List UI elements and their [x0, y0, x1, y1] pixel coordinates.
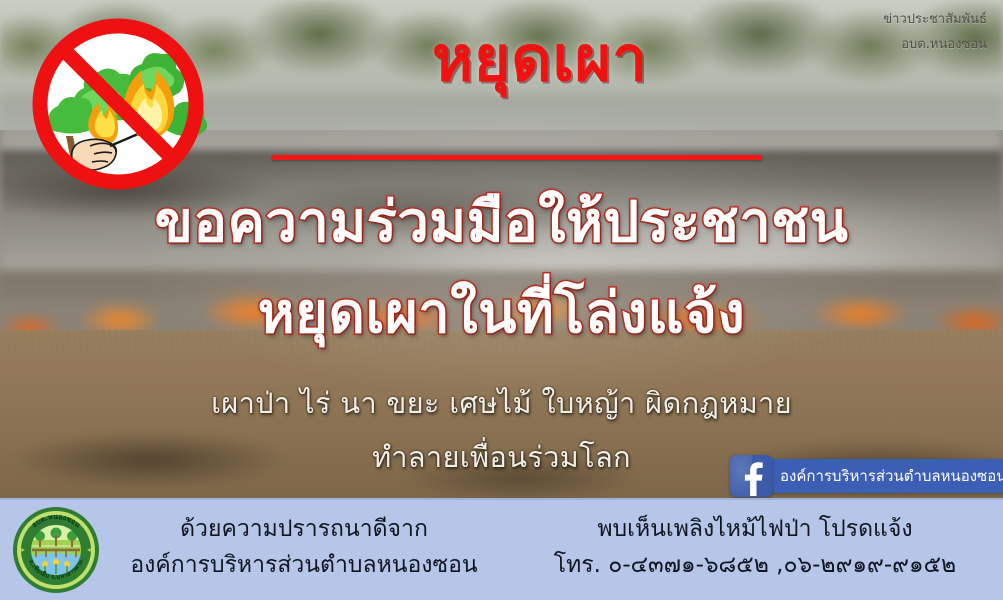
footer-left-line-1: ด้วยความปรารถนาดีจาก: [104, 512, 504, 548]
facebook-badge[interactable]: องค์การบริหารส่วนตำบลหนองซอน: [730, 455, 1003, 497]
top-right-agency-text: ข่าวประชาสัมพันธ์ อบต.หนองซอน: [883, 8, 987, 57]
no-open-burning-icon: [22, 18, 214, 190]
footer-left-text: ด้วยความปรารถนาดีจาก องค์การบริหารส่วนตำ…: [104, 512, 504, 583]
main-message-line-1: ขอความร่วมมือให้ประชาชน: [0, 192, 1003, 254]
municipal-seal-icon: อบต.หนองซอน อ.เชียงยืน จ.มหาสารคาม: [12, 506, 100, 594]
sub-message-line-1: เผาป่า ไร่ นา ขยะ เศษไม้ ใบหญ้า ผิดกฎหมา…: [0, 386, 1003, 421]
facebook-page-name[interactable]: องค์การบริหารส่วนตำบลหนองซอน: [766, 459, 1003, 493]
footer-bar: อบต.หนองซอน อ.เชียงยืน จ.มหาสารคาม ด้วยค…: [0, 498, 1003, 600]
main-message-line-2: หยุดเผาในที่โล่งแจ้ง: [0, 283, 1003, 345]
footer-left-line-2: องค์การบริหารส่วนตำบลหนองซอน: [104, 548, 504, 584]
headline-divider: [272, 155, 762, 160]
poster-canvas: ข่าวประชาสัมพันธ์ อบต.หนองซอน หยุดเผา ขอ…: [0, 0, 1003, 600]
agency-short-name: อบต.หนองซอน: [883, 33, 987, 58]
news-label: ข่าวประชาสัมพันธ์: [883, 8, 987, 33]
footer-right-text: พบเห็นเพลิงไหม้ไฟป่า โปรดแจ้ง โทร. ๐-๔๓๗…: [520, 512, 990, 583]
footer-right-line-1: พบเห็นเพลิงไหม้ไฟป่า โปรดแจ้ง: [520, 512, 990, 548]
facebook-icon[interactable]: [730, 455, 772, 497]
footer-phone-numbers: โทร. ๐-๔๓๗๑-๖๘๕๒ ,๐๖-๒๙๑๙-๙๑๕๒: [520, 548, 990, 584]
page-title: หยุดเผา: [330, 26, 750, 91]
